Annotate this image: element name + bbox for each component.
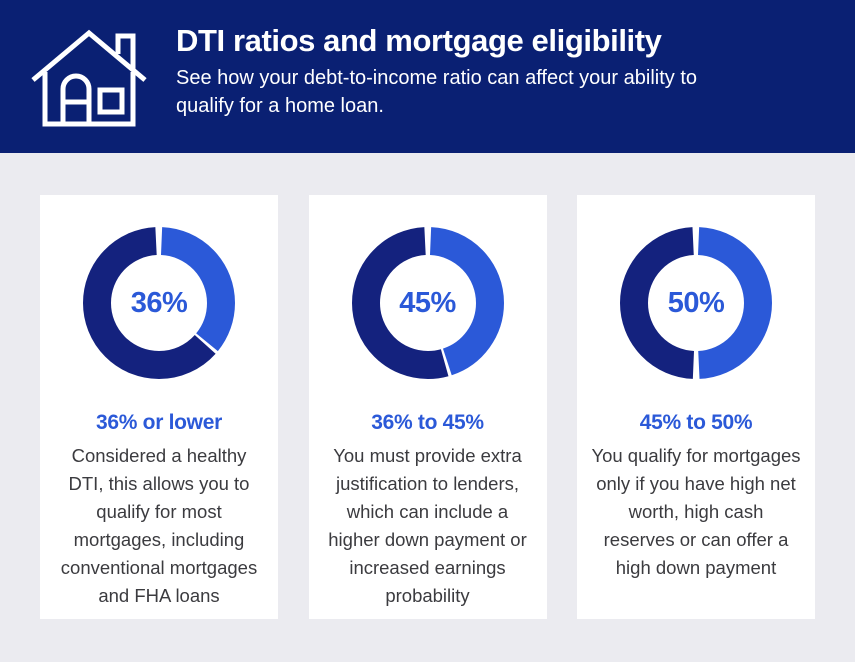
card-body-1: Considered a healthy DTI, this allows yo… [54,442,264,610]
house-icon [30,27,148,132]
dti-card-3: 50% 45% to 50% You qualify for mortgages… [577,195,815,619]
donut-center-label-3: 50% [616,223,776,383]
page-subtitle: See how your debt-to-income ratio can af… [176,64,716,120]
page-title: DTI ratios and mortgage eligibility [176,23,716,59]
card-heading-2: 36% to 45% [371,410,484,436]
card-heading-1: 36% or lower [96,410,222,436]
header-content: DTI ratios and mortgage eligibility See … [30,20,716,132]
donut-center-label-2: 45% [348,223,508,383]
donut-chart-3: 50% [616,223,776,383]
donut-center-label-1: 36% [79,223,239,383]
card-row: 36% 36% or lower Considered a healthy DT… [40,195,815,619]
header-text-block: DTI ratios and mortgage eligibility See … [176,20,716,120]
dti-card-2: 45% 36% to 45% You must provide extra ju… [309,195,547,619]
infographic-page: DTI ratios and mortgage eligibility See … [0,0,855,662]
donut-chart-2: 45% [348,223,508,383]
dti-card-1: 36% 36% or lower Considered a healthy DT… [40,195,278,619]
card-body-2: You must provide extra justification to … [323,442,533,610]
card-body-3: You qualify for mortgages only if you ha… [591,442,801,582]
card-heading-3: 45% to 50% [640,410,753,436]
header-banner: DTI ratios and mortgage eligibility See … [0,0,855,153]
donut-chart-1: 36% [79,223,239,383]
